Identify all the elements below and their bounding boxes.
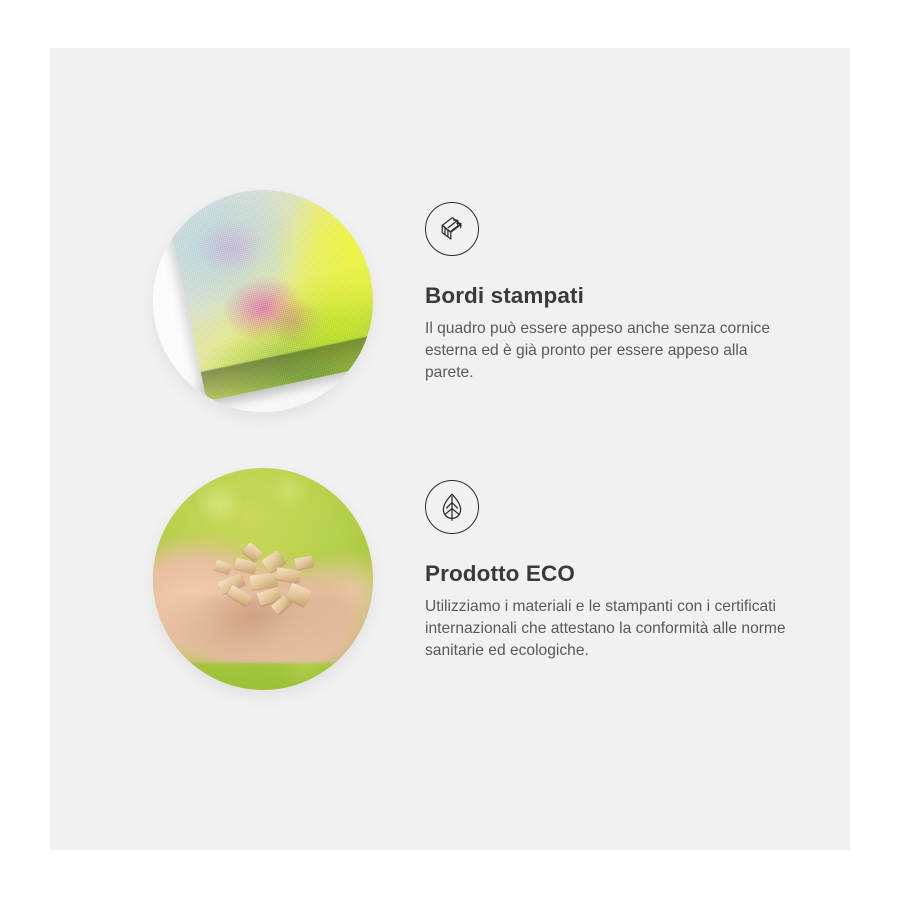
leaf-icon	[425, 480, 479, 534]
printed-edges-icon	[425, 202, 479, 256]
feature-block-printed-edges: Bordi stampati Il quadro può essere appe…	[50, 190, 850, 470]
feature-photo-wrapper	[153, 190, 373, 412]
feature-title: Bordi stampati	[425, 282, 805, 309]
content-panel: Bordi stampati Il quadro può essere appe…	[50, 48, 850, 850]
product-feature-page: Bordi stampati Il quadro può essere appe…	[0, 0, 900, 900]
feature-copy: Bordi stampati Il quadro può essere appe…	[425, 202, 805, 384]
feature-copy: Prodotto ECO Utilizziamo i materiali e l…	[425, 480, 805, 662]
feature-description: Utilizziamo i materiali e le stampanti c…	[425, 596, 795, 662]
feature-block-eco-product: Prodotto ECO Utilizziamo i materiali e l…	[50, 468, 850, 758]
feature-photo-wrapper	[153, 468, 373, 690]
feature-title: Prodotto ECO	[425, 560, 805, 587]
eco-hands-photo	[153, 468, 373, 690]
canvas-corner-photo	[153, 190, 373, 412]
feature-description: Il quadro può essere appeso anche senza …	[425, 318, 795, 384]
wood-chips-pile	[212, 543, 326, 618]
